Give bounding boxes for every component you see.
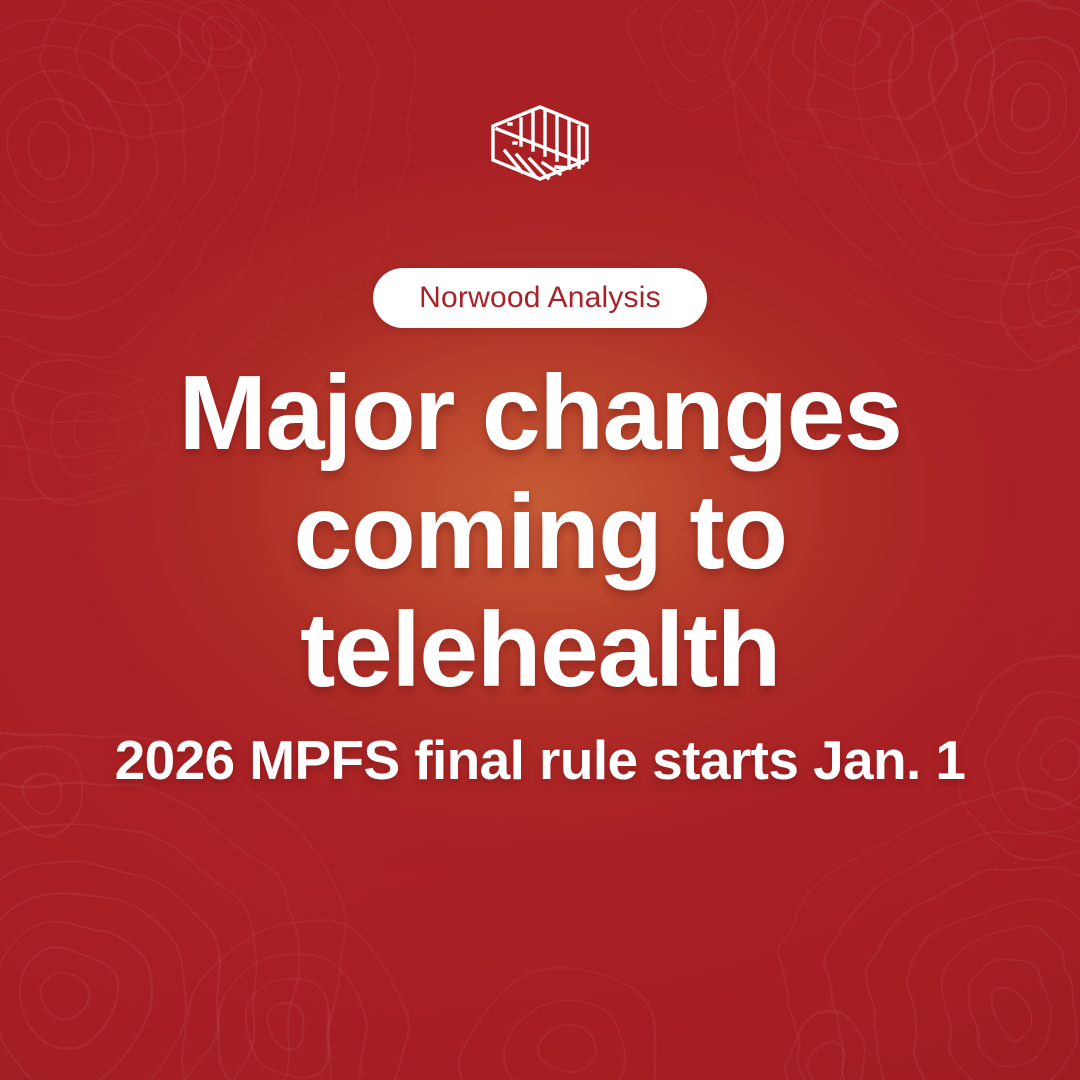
headline-line-1: Major changes [60,354,1020,473]
poster-canvas: Norwood Analysis Major changes coming to… [0,0,1080,1080]
headline-line-3: telehealth [60,591,1020,710]
category-badge-label: Norwood Analysis [419,283,661,313]
page-subtitle: 2026 MPFS final rule starts Jan. 1 [0,730,1080,791]
page-title: Major changes coming to telehealth [0,354,1080,710]
category-badge[interactable]: Norwood Analysis [373,268,707,328]
poster-content: Norwood Analysis Major changes coming to… [0,0,1080,1080]
norwood-hexagon-logo-icon [488,104,592,182]
headline-line-2: coming to [60,473,1020,592]
